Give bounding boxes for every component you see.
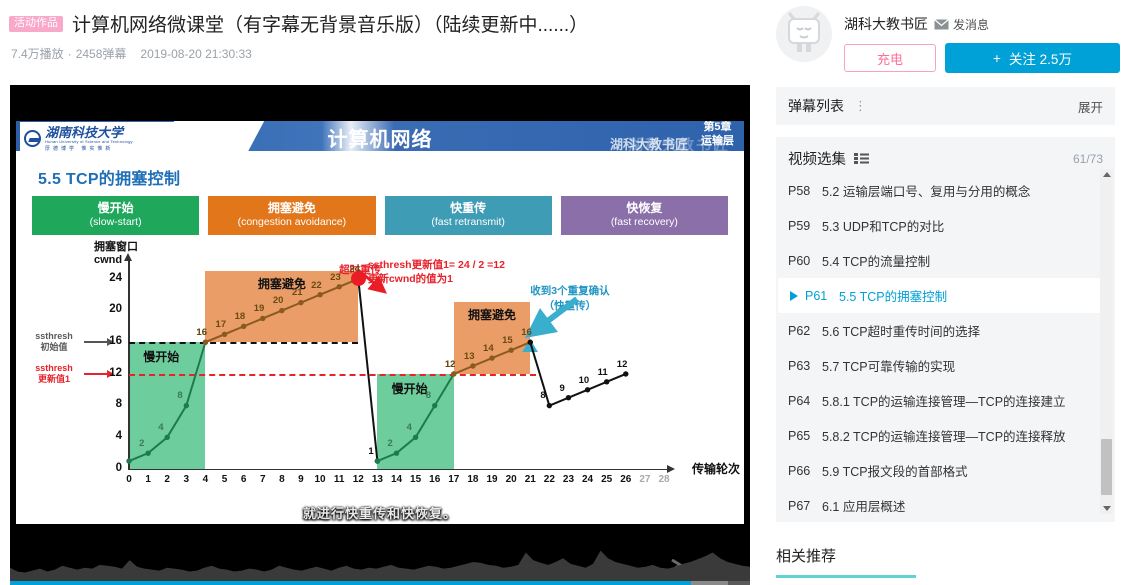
list-lines-icon [854, 153, 869, 164]
x-axis-title: 传输轮次 [692, 460, 740, 477]
episode-title: 5.8.2 TCP的运输连接管理—TCP的连接释放 [822, 426, 1066, 445]
episode-title: 5.7 TCP可靠传输的实现 [822, 356, 955, 375]
x-axis-tick: 8 [275, 474, 289, 485]
phase-label-en: (fast retransmit) [385, 216, 552, 228]
data-point-label: 2 [139, 438, 144, 449]
danmaku-list-panel-header: 弹幕列表 ⋮ 展开 [776, 87, 1115, 125]
upload-timestamp: 2019-08-20 21:30:33 [140, 47, 251, 61]
phase-label-cn: 拥塞避免 [208, 202, 375, 216]
phase-congestion-avoidance: 拥塞避免 (congestion avoidance) [208, 196, 375, 235]
episode-number: P58 [788, 184, 822, 198]
episode-number: P67 [788, 499, 822, 513]
list-view-icon[interactable] [854, 153, 869, 164]
data-point-label: 12 [445, 359, 456, 370]
episode-number: P62 [788, 324, 822, 338]
episode-title: 5.6 TCP超时重传时间的选择 [822, 321, 980, 340]
section-list-header: 视频选集 61/73 [776, 137, 1115, 169]
x-axis-tick: 27 [638, 474, 652, 485]
bilibili-video-page: 活动作品 计算机网络微课堂（有字幕无背景音乐版）（陆续更新中......） 7.… [0, 0, 1123, 585]
uploader-row: 湖科大教书匠 发消息 充电 + 关注 2.5万 [768, 0, 1123, 73]
episode-item-p60[interactable]: P605.4 TCP的流量控制 [776, 243, 1115, 278]
chapter-marker: 第5章 运输层 [701, 121, 734, 149]
danmaku-count: 2458弹幕 [76, 45, 127, 62]
y-axis-tick: 16 [100, 335, 122, 347]
x-axis-tick: 23 [561, 474, 575, 485]
more-options-icon[interactable]: ⋮ [854, 98, 867, 114]
progress-bar-track[interactable] [10, 581, 750, 585]
y-axis-tick: 8 [100, 398, 122, 410]
episode-item-p64[interactable]: P645.8.1 TCP的运输连接管理—TCP的连接建立 [776, 383, 1115, 418]
phase-fast-recovery: 快恢复 (fast recovery) [561, 196, 728, 235]
data-point-label: 8 [177, 390, 182, 401]
video-player[interactable]: 湖南科技大学 Hunan University of Science and T… [10, 85, 750, 585]
data-point-label: 18 [235, 311, 246, 322]
phase-label-cn: 快重传 [385, 202, 552, 216]
phase-label-cn: 快恢复 [561, 202, 728, 216]
data-point-label: 14 [483, 343, 494, 354]
scroll-up-arrow-icon[interactable] [1103, 172, 1111, 177]
episode-number: P60 [788, 254, 822, 268]
episode-item-p59[interactable]: P595.3 UDP和TCP的对比 [776, 208, 1115, 243]
episode-item-p67[interactable]: P676.1 应用层概述 [776, 488, 1115, 513]
video-main-column: 活动作品 计算机网络微课堂（有字幕无背景音乐版）（陆续更新中......） 7.… [0, 0, 760, 585]
episode-item-p61[interactable]: P615.5 TCP的拥塞控制 [778, 278, 1111, 313]
uploader-name-row: 湖科大教书匠 发消息 [844, 14, 1120, 34]
x-axis-tick: 18 [466, 474, 480, 485]
slide-section-title: 5.5 TCP的拥塞控制 [38, 165, 744, 189]
data-point-label: 12 [617, 359, 628, 370]
episode-item-p65[interactable]: P655.8.2 TCP的运输连接管理—TCP的连接释放 [776, 418, 1115, 453]
episode-number: P66 [788, 464, 822, 478]
data-point-label: 4 [407, 422, 412, 433]
x-axis-tick: 6 [237, 474, 251, 485]
data-point-label: 2 [388, 438, 393, 449]
x-axis-tick: 1 [141, 474, 155, 485]
x-axis-tick: 26 [619, 474, 633, 485]
data-point-label: 13 [464, 351, 475, 362]
chapter-number: 第5章 [701, 121, 734, 135]
cwnd-chart: 慢开始 拥塞避免 慢开始 拥塞避免 拥塞窗口 cwnd 传输轮次 [16, 238, 744, 506]
episode-list-scrollbar[interactable] [1100, 169, 1113, 514]
data-point-label: 11 [598, 367, 608, 378]
data-point-label: 1 [368, 446, 373, 457]
data-point-label: 24 [349, 264, 360, 275]
progress-bar-played [10, 581, 691, 585]
uploader-info: 湖科大教书匠 发消息 充电 + 关注 2.5万 [844, 6, 1120, 73]
sidebar: 湖科大教书匠 发消息 充电 + 关注 2.5万 [768, 0, 1123, 585]
episode-title: 5.5 TCP的拥塞控制 [839, 286, 947, 305]
x-axis-tick: 7 [256, 474, 270, 485]
y-axis-tick: 20 [100, 303, 122, 315]
phase-label-en: (slow-start) [32, 216, 199, 228]
episode-item-p58[interactable]: P585.2 运输层端口号、复用与分用的概念 [776, 173, 1115, 208]
data-point-label: 15 [502, 335, 513, 346]
data-point-label: 16 [521, 327, 532, 338]
scroll-down-arrow-icon[interactable] [1103, 506, 1111, 511]
x-axis-tick: 16 [428, 474, 442, 485]
episode-title: 5.3 UDP和TCP的对比 [822, 216, 944, 235]
x-axis-tick: 12 [351, 474, 365, 485]
slide-canvas: 湖南科技大学 Hunan University of Science and T… [16, 121, 744, 524]
x-axis-tick: 17 [447, 474, 461, 485]
activity-badge: 活动作品 [9, 16, 63, 32]
data-point-label: 20 [273, 295, 284, 306]
x-axis-tick: 0 [122, 474, 136, 485]
phase-label-en: (congestion avoidance) [208, 216, 375, 228]
danmaku-panel-title: 弹幕列表 [788, 96, 844, 116]
title-row: 活动作品 计算机网络微课堂（有字幕无背景音乐版）（陆续更新中......） [0, 0, 760, 37]
charge-button[interactable]: 充电 [844, 44, 936, 72]
related-section: 相关推荐 [776, 545, 916, 578]
x-axis-tick: 28 [657, 474, 671, 485]
section-list-title: 视频选集 [788, 148, 846, 169]
y-axis-tick: 4 [100, 430, 122, 442]
phase-label-cn: 慢开始 [32, 202, 199, 216]
x-axis-tick: 15 [409, 474, 423, 485]
x-axis-tick: 10 [313, 474, 327, 485]
x-axis-tick: 4 [198, 474, 212, 485]
meta-separator: · [68, 47, 72, 61]
play-triangle-icon [790, 291, 798, 301]
x-axis-tick: 14 [390, 474, 404, 485]
data-point-label: 23 [330, 272, 341, 283]
chapter-name: 运输层 [701, 135, 734, 149]
episode-counter: 61/73 [1073, 152, 1103, 166]
episode-title: 5.8.1 TCP的运输连接管理—TCP的连接建立 [822, 391, 1066, 410]
episode-list[interactable]: P585.2 运输层端口号、复用与分用的概念P595.3 UDP和TCP的对比P… [776, 173, 1115, 513]
phase-label-en: (fast recovery) [561, 216, 728, 228]
video-subtitle: 就进行快重传和快恢复。 [16, 503, 744, 522]
episode-item-p66[interactable]: P665.9 TCP报文段的首部格式 [776, 453, 1115, 488]
episode-title: 5.2 运输层端口号、复用与分用的概念 [822, 181, 1030, 200]
envelope-icon [934, 19, 949, 30]
play-count: 7.4万播放 [11, 45, 64, 62]
data-point-label: 16 [196, 327, 207, 338]
x-axis-tick: 2 [160, 474, 174, 485]
episode-item-p63[interactable]: P635.7 TCP可靠传输的实现 [776, 348, 1115, 383]
uploader-name[interactable]: 湖科大教书匠 [844, 14, 928, 34]
episode-title: 5.4 TCP的流量控制 [822, 251, 930, 270]
y-axis-tick: 0 [100, 462, 122, 474]
avatar[interactable] [776, 6, 832, 62]
phase-boxes: 慢开始 (slow-start) 拥塞避免 (congestion avoida… [32, 196, 728, 235]
uploader-action-buttons: 充电 + 关注 2.5万 [844, 43, 1120, 73]
x-axis-tick: 20 [504, 474, 518, 485]
phase-slow-start: 慢开始 (slow-start) [32, 196, 199, 235]
slide-banner: 湖南科技大学 Hunan University of Science and T… [16, 121, 744, 157]
data-point-label: 21 [292, 287, 303, 298]
y-axis-tick: 12 [100, 367, 122, 379]
phase-fast-retransmit: 快重传 (fast retransmit) [385, 196, 552, 235]
episode-title: 6.1 应用层概述 [822, 496, 905, 513]
episode-title: 5.9 TCP报文段的首部格式 [822, 461, 968, 480]
episode-number: P64 [788, 394, 822, 408]
x-axis-tick: 22 [542, 474, 556, 485]
x-axis-tick: 24 [581, 474, 595, 485]
x-axis-tick: 21 [523, 474, 537, 485]
follow-button[interactable]: + 关注 2.5万 [945, 43, 1120, 73]
scrollbar-thumb[interactable] [1101, 439, 1112, 495]
data-point-label: 8 [540, 390, 545, 401]
x-axis-tick: 3 [179, 474, 193, 485]
send-message-link[interactable]: 发消息 [934, 16, 989, 33]
episode-number: P59 [788, 219, 822, 233]
data-point-label: 17 [216, 319, 227, 330]
data-point-label: 9 [559, 383, 564, 394]
tv-mascot-icon [776, 6, 832, 62]
x-axis-tick: 25 [600, 474, 614, 485]
video-meta: 7.4万播放 · 2458弹幕 2019-08-20 21:30:33 [0, 37, 760, 62]
danmaku-density-heatmap[interactable] [10, 541, 750, 581]
section-list-panel: 视频选集 61/73 P585.2 运输层端口号、复用与分用的概念P595.3 … [776, 137, 1115, 522]
data-point-label: 22 [311, 280, 322, 291]
follow-label: 关注 2.5万 [1009, 48, 1072, 68]
x-axis-tick: 13 [370, 474, 384, 485]
related-underline [776, 575, 916, 578]
data-point-label: 19 [254, 303, 265, 314]
x-axis-tick: 11 [332, 474, 346, 485]
expand-button[interactable]: 展开 [1078, 97, 1103, 116]
plus-icon: + [993, 51, 1001, 66]
related-title: 相关推荐 [776, 545, 916, 566]
x-axis-tick: 19 [485, 474, 499, 485]
y-axis-tick: 24 [100, 272, 122, 284]
x-axis-tick: 5 [218, 474, 232, 485]
data-point-label: 8 [426, 390, 431, 401]
send-message-label: 发消息 [953, 16, 989, 33]
episode-item-p62[interactable]: P625.6 TCP超时重传时间的选择 [776, 313, 1115, 348]
episode-number: P63 [788, 359, 822, 373]
episode-number: P65 [788, 429, 822, 443]
data-point-label: 10 [579, 375, 590, 386]
page-title: 计算机网络微课堂（有字幕无背景音乐版）（陆续更新中......） [72, 10, 588, 37]
x-axis-tick: 9 [294, 474, 308, 485]
data-point-label: 4 [158, 422, 163, 433]
episode-number: P61 [805, 289, 839, 303]
